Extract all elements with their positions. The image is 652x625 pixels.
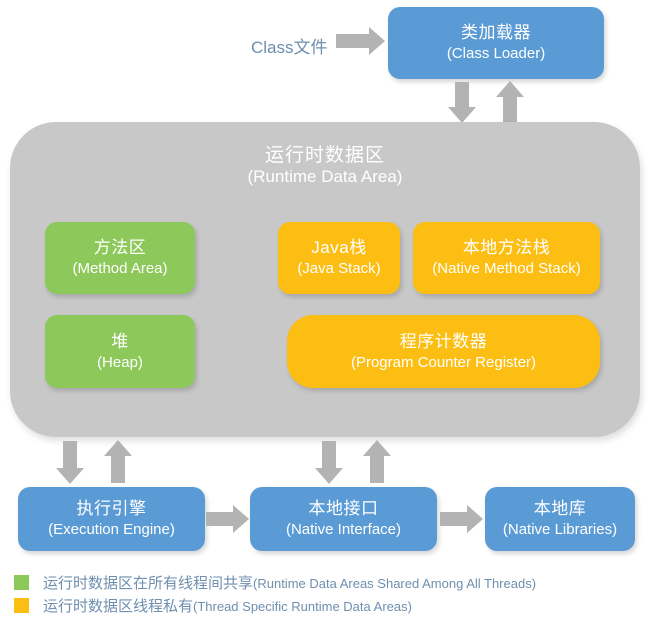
node-heap-label-cn: 堆 [111,332,129,352]
node-native-method-stack-label-cn: 本地方法栈 [463,238,551,258]
node-heap[interactable]: 堆 (Heap) [45,315,195,388]
node-method-area-label-en: (Method Area) [72,260,167,278]
arrow-classfile-to-classloader [336,34,370,48]
arrow-execution-engine-to-native-interface [206,512,234,526]
node-class-loader[interactable]: 类加载器 (Class Loader) [388,7,604,79]
node-native-interface-label-cn: 本地接口 [309,499,379,519]
arrow-runtime-to-classloader [503,96,517,122]
node-class-loader-label-cn: 类加载器 [461,23,531,43]
legend-label-private-cn: 运行时数据区线程私有 [43,598,193,615]
node-java-stack-label-en: (Java Stack) [297,260,380,278]
legend-label-shared: 运行时数据区在所有线程间共享(Runtime Data Areas Shared… [43,572,536,593]
runtime-data-area-title: 运行时数据区 (Runtime Data Area) [10,144,640,188]
legend-label-private-en: (Thread Specific Runtime Data Areas) [193,599,412,614]
runtime-data-area-title-en: (Runtime Data Area) [10,167,640,188]
node-native-interface-label-en: (Native Interface) [286,521,401,539]
node-native-method-stack[interactable]: 本地方法栈 (Native Method Stack) [413,222,600,294]
node-execution-engine-label-en: (Execution Engine) [48,521,175,539]
arrow-native-interface-to-native-libraries [440,512,468,526]
node-execution-engine[interactable]: 执行引擎 (Execution Engine) [18,487,205,551]
legend-label-shared-cn: 运行时数据区在所有线程间共享 [43,575,253,592]
node-java-stack-label-cn: Java栈 [311,238,366,258]
node-native-interface[interactable]: 本地接口 (Native Interface) [250,487,437,551]
jvm-architecture-diagram: Class文件 类加载器 (Class Loader) 运行时数据区 (Runt… [0,0,652,625]
node-heap-label-en: (Heap) [97,354,143,372]
node-method-area-label-cn: 方法区 [94,238,147,258]
arrow-runtime-to-native-interface [322,441,336,469]
runtime-data-area-title-cn: 运行时数据区 [10,144,640,167]
arrow-classloader-to-runtime [455,82,469,108]
node-pc-register-label-en: (Program Counter Register) [351,354,536,372]
node-java-stack[interactable]: Java栈 (Java Stack) [278,222,400,294]
node-execution-engine-label-cn: 执行引擎 [77,499,147,519]
class-file-label: Class文件 [251,33,328,58]
node-class-loader-label-en: (Class Loader) [447,45,545,63]
node-native-libraries-label-cn: 本地库 [534,499,587,519]
node-method-area[interactable]: 方法区 (Method Area) [45,222,195,294]
legend-label-shared-en: (Runtime Data Areas Shared Among All Thr… [253,576,536,591]
arrow-native-interface-to-runtime [370,455,384,483]
legend: 运行时数据区在所有线程间共享(Runtime Data Areas Shared… [14,571,536,617]
legend-item-private: 运行时数据区线程私有(Thread Specific Runtime Data … [14,594,536,617]
legend-item-shared: 运行时数据区在所有线程间共享(Runtime Data Areas Shared… [14,571,536,594]
legend-swatch-amber-icon [14,598,29,613]
node-native-method-stack-label-en: (Native Method Stack) [432,260,580,278]
legend-swatch-green-icon [14,575,29,590]
legend-label-private: 运行时数据区线程私有(Thread Specific Runtime Data … [43,595,412,616]
node-pc-register-label-cn: 程序计数器 [400,332,488,352]
arrow-execution-engine-to-runtime [111,455,125,483]
arrow-runtime-to-execution-engine [63,441,77,469]
node-pc-register[interactable]: 程序计数器 (Program Counter Register) [287,315,600,388]
node-native-libraries[interactable]: 本地库 (Native Libraries) [485,487,635,551]
node-native-libraries-label-en: (Native Libraries) [503,521,617,539]
